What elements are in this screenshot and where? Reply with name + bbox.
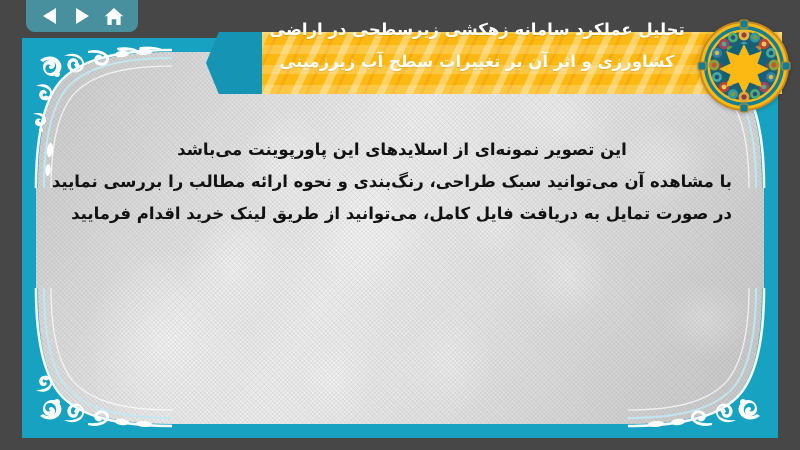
triangle-left-icon	[42, 7, 58, 25]
forward-button[interactable]	[69, 3, 95, 29]
body-line-1: این تصویر نمونه‌ای از اسلایدهای این پاور…	[72, 134, 732, 166]
home-icon	[104, 7, 124, 26]
back-button[interactable]	[37, 3, 63, 29]
body-line-3: در صورت تمایل به دریافت فایل کامل، می‌تو…	[72, 198, 732, 230]
home-button[interactable]	[101, 3, 127, 29]
triangle-right-icon	[74, 7, 90, 25]
slide-body-text: این تصویر نمونه‌ای از اسلایدهای این پاور…	[72, 134, 732, 231]
page-title: تحلیل عملکرد سامانه زهکشی زیرسطحی در ارا…	[242, 14, 712, 78]
navigation-bar	[26, 0, 138, 32]
islamic-medallion-icon	[696, 18, 792, 114]
slide-title-banner: تحلیل عملکرد سامانه زهکشی زیرسطحی در ارا…	[206, 16, 800, 112]
body-line-2: با مشاهده آن می‌توانید سبک طراحی، رنگ‌بن…	[72, 166, 732, 198]
slide-viewer-window: این تصویر نمونه‌ای از اسلایدهای این پاور…	[0, 0, 800, 450]
